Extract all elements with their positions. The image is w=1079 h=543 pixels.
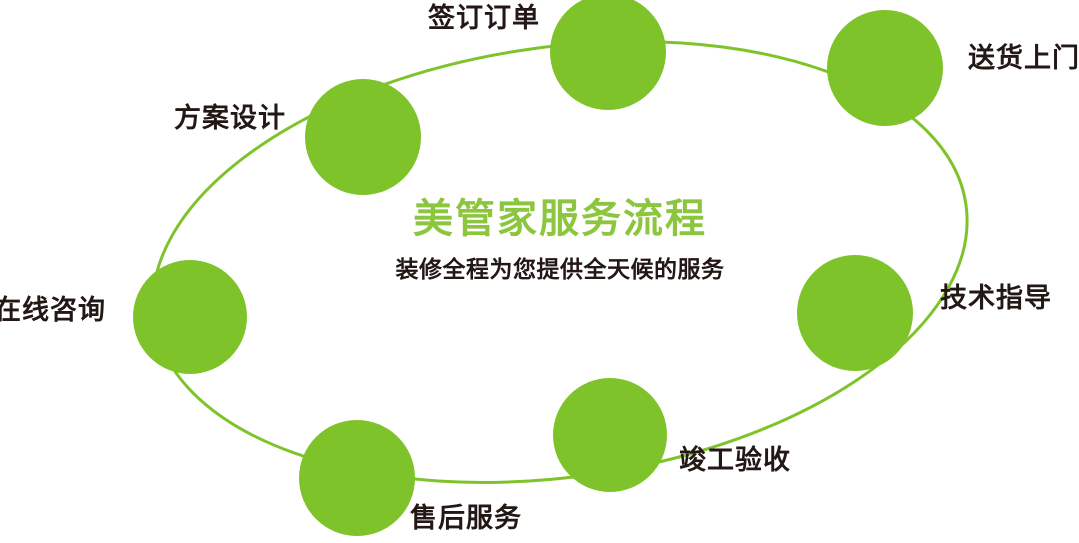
node-after-sales[interactable] bbox=[299, 420, 415, 536]
node-completion-acceptance[interactable] bbox=[553, 378, 667, 492]
label-plan-design: 方案设计 bbox=[174, 105, 286, 132]
center-text-block: 美管家服务流程 装修全程为您提供全天候的服务 bbox=[330, 198, 790, 283]
node-online-consult[interactable] bbox=[133, 260, 247, 374]
node-plan-design[interactable] bbox=[305, 79, 421, 195]
label-door-delivery: 送货上门 bbox=[968, 45, 1079, 72]
label-after-sales: 售后服务 bbox=[410, 505, 522, 532]
service-flow-diagram: 在线咨询 方案设计 签订订单 送货上门 技术指导 竣工验收 售后服务 美管家服务… bbox=[0, 0, 1079, 543]
node-door-delivery[interactable] bbox=[827, 10, 943, 126]
label-sign-order: 签订订单 bbox=[428, 5, 540, 32]
page-subtitle: 装修全程为您提供全天候的服务 bbox=[330, 258, 790, 283]
page-title: 美管家服务流程 bbox=[330, 198, 790, 240]
node-tech-guide[interactable] bbox=[797, 255, 913, 371]
label-completion-acceptance: 竣工验收 bbox=[679, 447, 791, 474]
label-tech-guide: 技术指导 bbox=[940, 285, 1052, 312]
label-online-consult: 在线咨询 bbox=[0, 297, 106, 324]
